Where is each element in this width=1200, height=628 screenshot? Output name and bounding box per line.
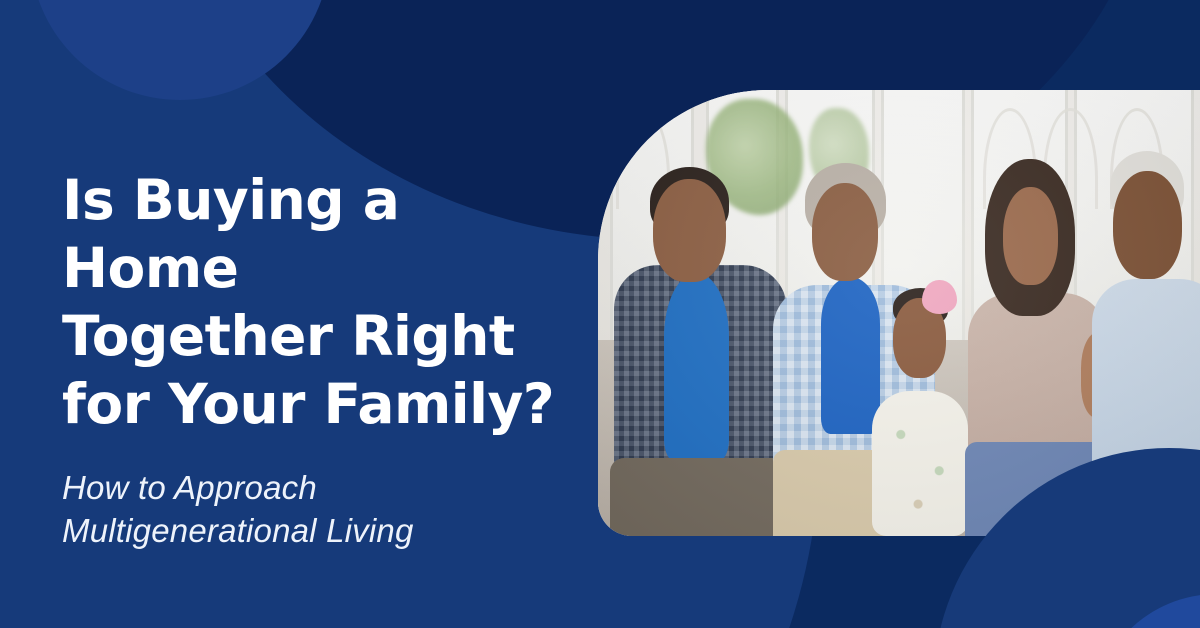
text-block: Is Buying a Home Together Right for Your… <box>62 166 582 552</box>
page-title: Is Buying a Home Together Right for Your… <box>62 166 582 438</box>
blog-hero-banner: Is Buying a Home Together Right for Your… <box>0 0 1200 628</box>
page-subtitle: How to Approach Multigenerational Living <box>62 466 582 552</box>
